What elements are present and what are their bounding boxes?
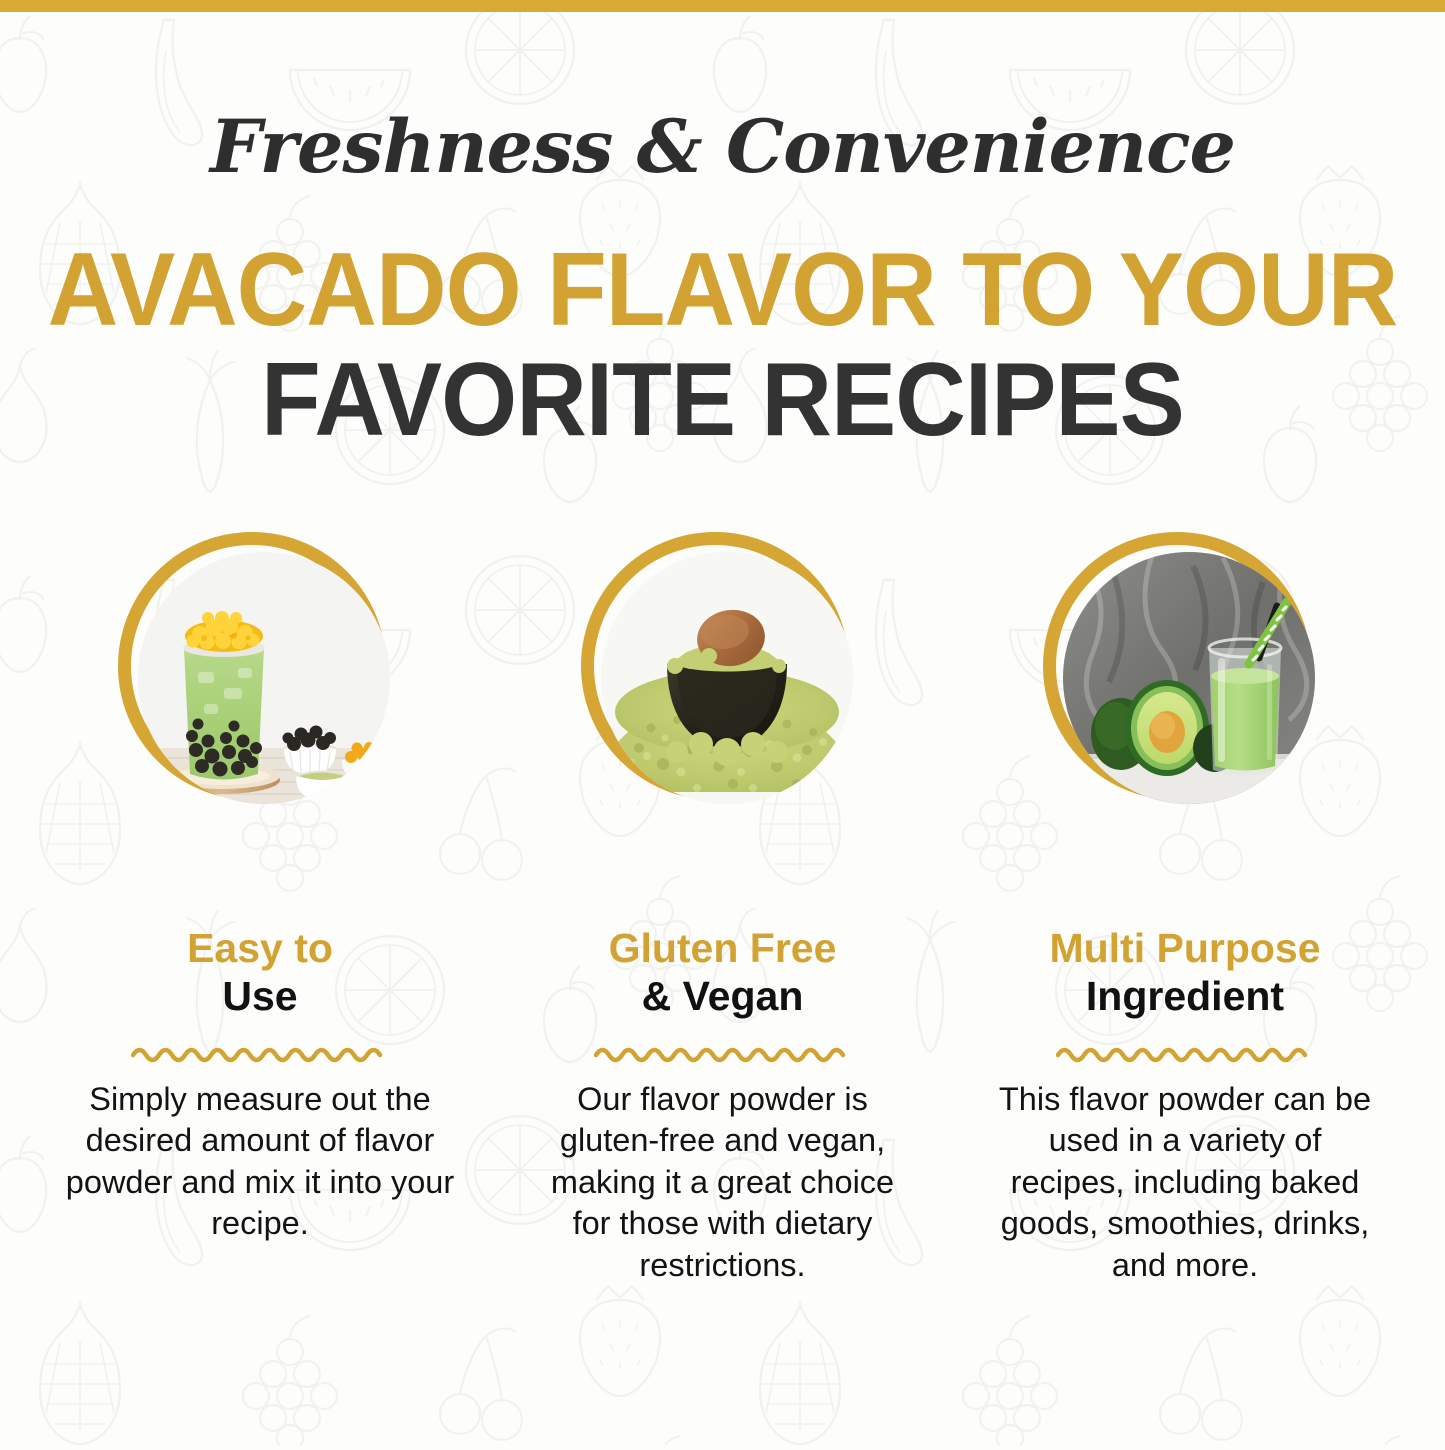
wavy-divider (131, 1041, 389, 1063)
feature-title: Multi Purpose Ingredient (1049, 926, 1320, 1019)
feature-columns: Easy to Use Simply measure out the desir… (0, 520, 1445, 1287)
feature-title-dark: Use (187, 974, 333, 1018)
feature-column-easy-to-use: Easy to Use Simply measure out the desir… (60, 520, 460, 1287)
feature-title-gold: Gluten Free (609, 926, 837, 970)
avocado-boba-milk-tea-photo (138, 552, 390, 804)
feature-body-text: Simply measure out the desired amount of… (65, 1079, 455, 1245)
feature-title-dark: & Vegan (609, 974, 837, 1018)
feature-image-block (110, 520, 410, 920)
feature-image-block (573, 520, 873, 920)
avocado-smoothie-photo (1063, 552, 1315, 804)
feature-title: Gluten Free & Vegan (609, 926, 837, 1019)
top-accent-bar (0, 0, 1445, 12)
infographic-page: Freshness & Convenience AVACADO FLAVOR T… (0, 0, 1445, 1445)
wavy-divider (1056, 1041, 1314, 1063)
wavy-divider (594, 1041, 852, 1063)
headline-line-2: FAVORITE RECIPES (43, 348, 1401, 452)
feature-body-text: This flavor powder can be used in a vari… (990, 1079, 1380, 1287)
headline-line-1: AVACADO FLAVOR TO YOUR (43, 238, 1401, 342)
feature-column-multi-purpose: Multi Purpose Ingredient This flavor pow… (985, 520, 1385, 1287)
avocado-powder-photo (601, 552, 853, 804)
feature-title-gold: Easy to (187, 926, 333, 970)
feature-title: Easy to Use (187, 926, 333, 1019)
feature-title-dark: Ingredient (1049, 974, 1320, 1018)
feature-body-text: Our flavor powder is gluten-free and veg… (528, 1079, 918, 1287)
feature-image-block (1035, 520, 1335, 920)
feature-column-gluten-free-vegan: Gluten Free & Vegan Our flavor powder is… (523, 520, 923, 1287)
script-title: Freshness & Convenience (0, 104, 1445, 190)
feature-title-gold: Multi Purpose (1049, 926, 1320, 970)
